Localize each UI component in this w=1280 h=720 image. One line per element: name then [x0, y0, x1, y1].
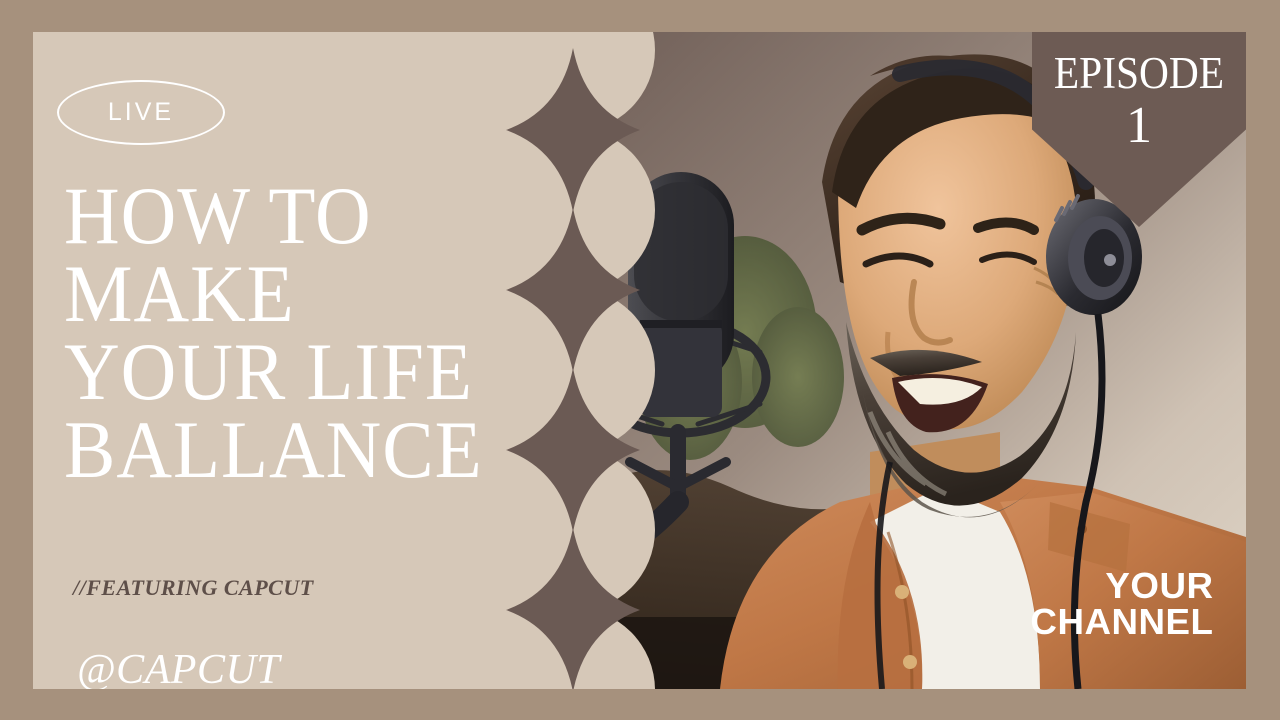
channel-line-2: CHANNEL	[1030, 604, 1213, 641]
page-title: HOW TO MAKE YOUR LIFE BALLANCE	[64, 177, 534, 489]
channel-name: YOUR CHANNEL	[1034, 568, 1214, 641]
live-badge[interactable]: LIVE	[57, 80, 225, 145]
live-badge-label: LIVE	[108, 100, 174, 125]
inner-panel: LIVE HOW TO MAKE YOUR LIFE BALLANCE //FE…	[33, 32, 1246, 689]
headline-line-1: HOW TO	[64, 177, 506, 255]
headline-line-2: MAKE	[64, 255, 506, 333]
episode-badge-number: 1	[1032, 100, 1246, 152]
thumbnail-canvas: LIVE HOW TO MAKE YOUR LIFE BALLANCE //FE…	[0, 0, 1280, 720]
episode-badge: EPISODE 1	[1032, 32, 1246, 227]
headline-line-3: YOUR LIFE	[64, 333, 506, 411]
headline-line-4: BALLANCE	[64, 411, 506, 489]
episode-badge-label: EPISODE	[1041, 51, 1238, 96]
channel-line-1: YOUR	[1030, 568, 1213, 605]
social-handle[interactable]: @CAPCUT	[77, 646, 280, 689]
featuring-label: //FEATURING CAPCUT	[73, 575, 314, 601]
